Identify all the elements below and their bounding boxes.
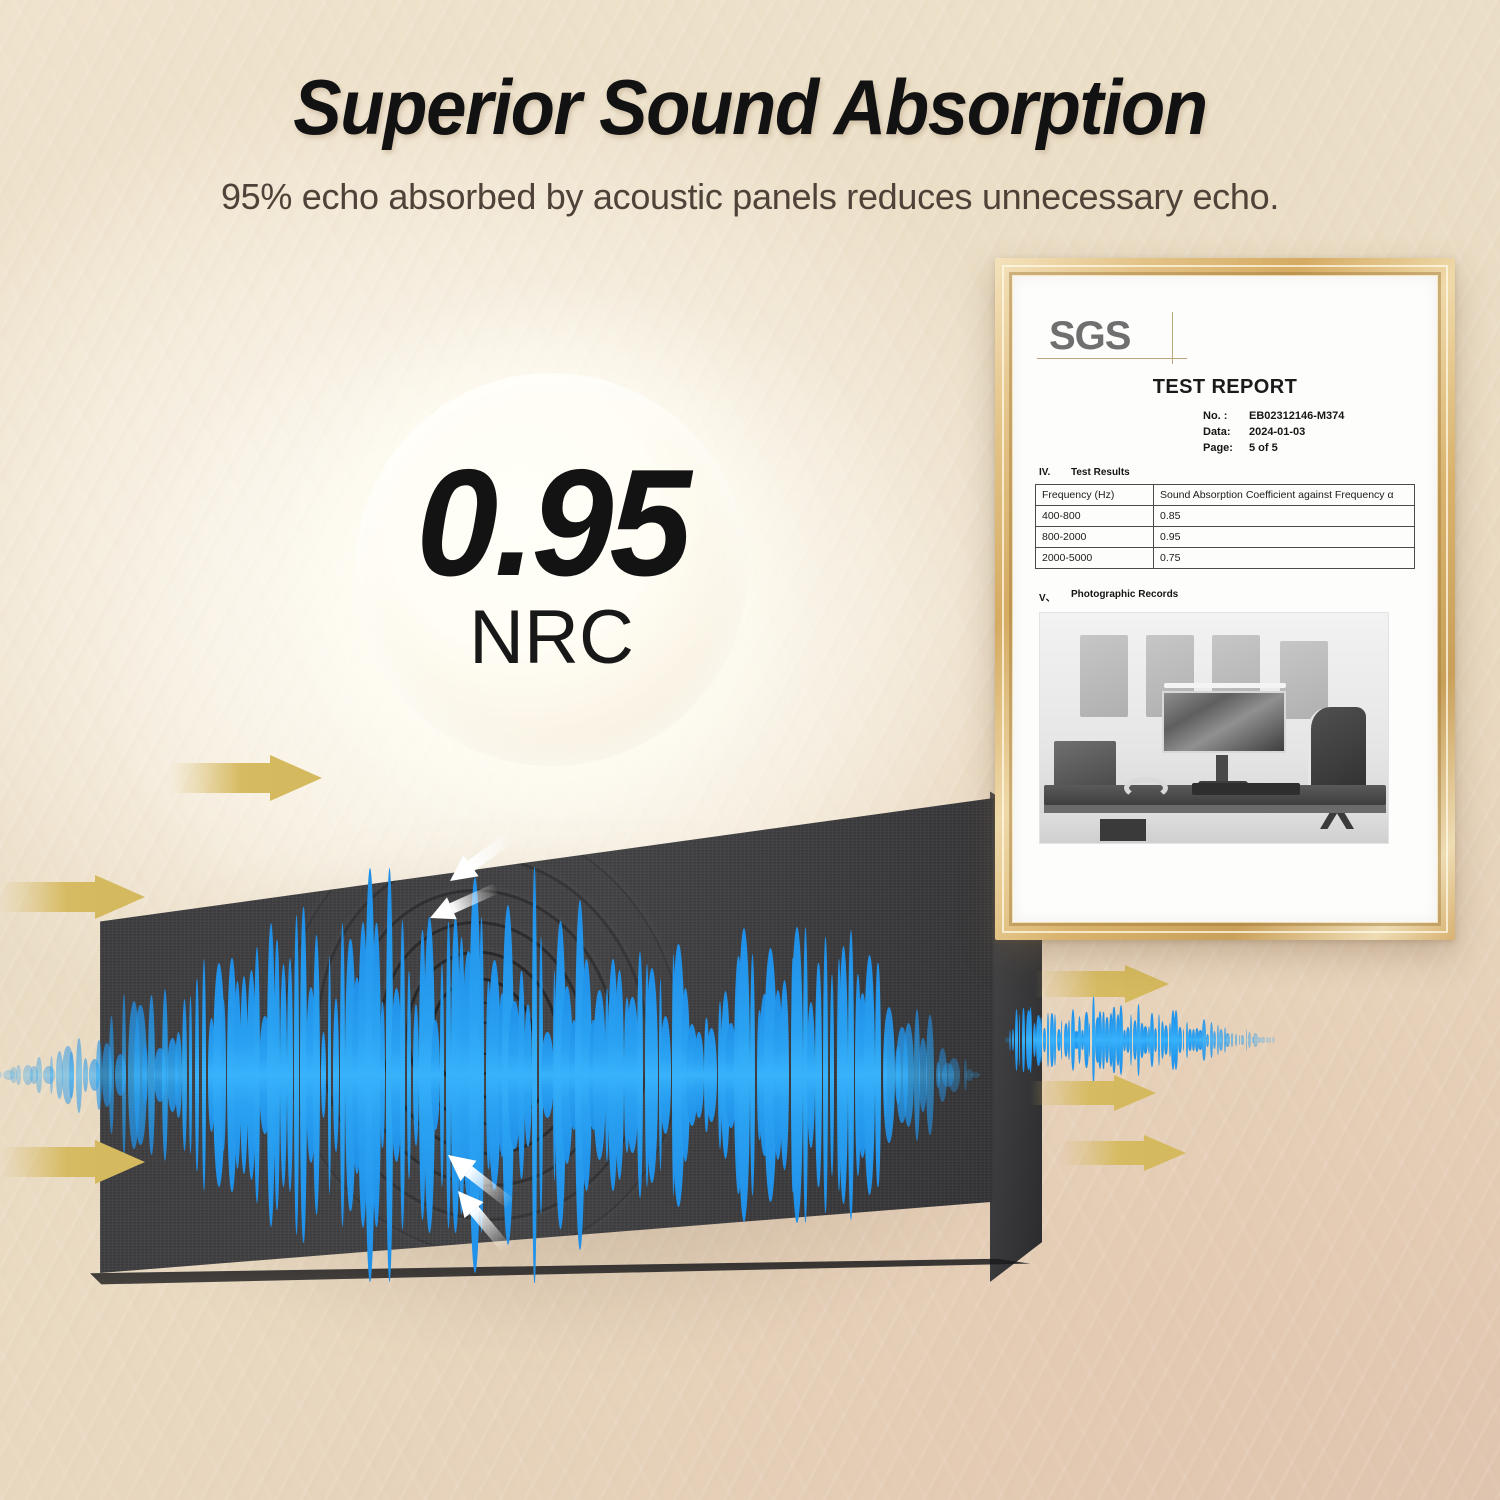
waveform-spike — [274, 940, 280, 1210]
arrow-shaft — [170, 763, 270, 793]
section-title: Test Results — [1071, 467, 1130, 478]
waveform-spike — [69, 1052, 73, 1099]
waveform-spike — [1089, 1023, 1091, 1057]
report-meta-key: Data: — [1203, 426, 1249, 438]
page-subtitle: 95% echo absorbed by acoustic panels red… — [0, 176, 1500, 218]
photo-wall-panel — [1280, 641, 1328, 719]
waveform-spike — [122, 994, 126, 1156]
photo-headset — [1124, 777, 1168, 799]
waveform-spike — [175, 1032, 182, 1118]
table-row: 2000-5000 0.75 — [1036, 548, 1415, 569]
attenuated-sound-waveform — [1005, 1000, 1275, 1080]
sgs-logo: SGS — [1049, 316, 1169, 356]
waveform-spike — [1183, 1029, 1185, 1051]
table-header-row: Frequency (Hz) Sound Absorption Coeffici… — [1036, 485, 1415, 506]
photo-floor — [1040, 813, 1388, 843]
table-cell-frequency: 800-2000 — [1036, 527, 1154, 548]
waveform-spike — [221, 999, 226, 1151]
waveform-spike — [903, 1023, 914, 1127]
waveform-spike — [440, 963, 444, 1187]
waveform-spike — [321, 1032, 326, 1117]
table-cell-coefficient: 0.75 — [1154, 548, 1415, 569]
waveform-spike — [400, 920, 406, 1230]
waveform-spike — [791, 927, 803, 1223]
sgs-logo-tick-vertical — [1172, 312, 1174, 364]
photo-monitor-stand — [1216, 755, 1228, 783]
arrow-shaft — [0, 882, 95, 912]
arrow-head — [270, 755, 322, 801]
waveform-spike — [750, 954, 755, 1195]
waveform-spike — [43, 1066, 55, 1084]
waveform-spike — [1253, 1033, 1258, 1047]
waveform-spike — [1246, 1029, 1248, 1051]
table-cell-coefficient: 0.85 — [1154, 506, 1415, 527]
section-number: IV. — [1035, 467, 1071, 478]
waveform-spike — [848, 930, 854, 1219]
waveform-spike — [1219, 1029, 1223, 1051]
waveform-spike — [1043, 1028, 1046, 1052]
waveform-spike — [694, 1032, 704, 1118]
arrow-shaft — [0, 1147, 95, 1177]
waveform-spike — [1178, 1027, 1182, 1053]
waveform-spike — [407, 971, 411, 1178]
waveform-spike — [660, 1016, 672, 1134]
waveform-spike — [883, 1007, 895, 1144]
sound-direction-arrow — [1035, 965, 1169, 1003]
waveform-spike — [830, 974, 834, 1176]
waveform-spike — [333, 998, 339, 1153]
waveform-spike — [971, 1072, 980, 1078]
waveform-spike — [36, 1057, 42, 1094]
arrow-shaft — [1060, 1141, 1144, 1165]
sound-direction-arrow — [170, 755, 322, 801]
waveform-spike — [1102, 1012, 1104, 1069]
waveform-spike — [1054, 1014, 1056, 1067]
waveform-spike — [1239, 1035, 1241, 1045]
sound-direction-arrow — [1060, 1135, 1186, 1171]
waveform-spike — [593, 990, 606, 1161]
waveform-spike — [1154, 1028, 1158, 1051]
photo-keyboard — [1192, 783, 1300, 795]
photo-floor-box — [1100, 819, 1146, 841]
table-row: 800-2000 0.95 — [1036, 527, 1415, 548]
waveform-spike — [16, 1065, 21, 1086]
waveform-spike — [1068, 1020, 1070, 1060]
report-meta-value: 2024-01-03 — [1249, 426, 1305, 438]
arrow-shaft — [1035, 971, 1125, 997]
waveform-spike — [287, 958, 293, 1191]
report-meta-value: 5 of 5 — [1249, 442, 1278, 454]
nrc-label: NRC — [469, 600, 634, 676]
photo-monitor-lightbar — [1164, 683, 1286, 688]
arrow-head — [95, 1140, 145, 1184]
waveform-spike — [109, 1016, 114, 1134]
test-report-document: SGS TEST REPORT No. : EB02312146-M374 Da… — [1013, 276, 1437, 922]
waveform-spike — [1235, 1034, 1237, 1047]
waveform-spike — [413, 1004, 419, 1146]
waveform-spike — [202, 959, 206, 1190]
sgs-logo-tick-horizontal — [1037, 358, 1187, 360]
nrc-rating-badge: 0.95 NRC — [355, 373, 748, 766]
arrow-head — [1125, 965, 1169, 1003]
waveform-spike — [83, 1058, 88, 1091]
waveform-spike — [815, 963, 822, 1188]
photographic-records-section: V、 Photographic Records — [1035, 589, 1415, 844]
waveform-spike — [823, 937, 828, 1214]
report-meta-block: No. : EB02312146-M374 Data: 2024-01-03 P… — [1035, 410, 1415, 454]
waveform-spike — [637, 952, 643, 1198]
waveform-spike — [1022, 1008, 1025, 1073]
waveform-spike — [76, 1038, 82, 1113]
sound-direction-arrow — [0, 875, 145, 919]
waveform-spike — [1130, 1014, 1132, 1066]
arrow-head — [95, 875, 145, 919]
waveform-spike — [1272, 1037, 1275, 1043]
waveform-spike — [864, 955, 875, 1196]
waveform-spike — [1213, 1031, 1216, 1049]
report-meta-row: Page: 5 of 5 — [1203, 442, 1415, 454]
report-meta-row: Data: 2024-01-03 — [1203, 426, 1415, 438]
photo-laptop — [1054, 741, 1116, 789]
photo-monitor — [1162, 691, 1286, 753]
sound-direction-arrow — [1030, 1075, 1156, 1111]
section-title: Photographic Records — [1071, 589, 1178, 604]
waveform-spike — [1047, 1013, 1050, 1067]
report-meta-key: No. : — [1203, 410, 1249, 422]
table-cell-coefficient: 0.95 — [1154, 527, 1415, 548]
waveform-spike — [1241, 1035, 1243, 1045]
waveform-spike — [1261, 1037, 1265, 1043]
report-meta-row: No. : EB02312146-M374 — [1203, 410, 1415, 422]
waveform-spike — [926, 1015, 934, 1135]
waveform-spike — [431, 1020, 440, 1131]
waveform-spike — [807, 1002, 816, 1149]
waveform-spike — [524, 1004, 532, 1147]
waveform-spike — [706, 1028, 717, 1122]
waveform-spike — [1040, 1017, 1042, 1063]
waveform-spike — [1009, 1030, 1011, 1051]
section-heading-test-results: IV. Test Results — [1035, 467, 1415, 478]
waveform-spike — [195, 979, 199, 1171]
table-header-cell: Sound Absorption Coefficient against Fre… — [1154, 485, 1415, 506]
arrow-head — [1144, 1135, 1186, 1171]
waveform-spike — [1231, 1033, 1233, 1047]
waveform-spike — [1012, 1029, 1014, 1051]
waveform-spike — [541, 1032, 554, 1118]
arrow-head — [1114, 1075, 1156, 1111]
waveform-spike — [1268, 1037, 1271, 1043]
waveform-spike — [50, 1056, 53, 1094]
section-number: V、 — [1035, 589, 1071, 604]
waveform-spike — [294, 915, 299, 1234]
waveform-spike — [1029, 1007, 1032, 1073]
waveform-spike — [646, 968, 658, 1183]
waveform-spike — [313, 935, 320, 1214]
sound-direction-arrow — [0, 1140, 145, 1184]
certificate-picture-frame: SGS TEST REPORT No. : EB02312146-M374 Da… — [995, 258, 1455, 940]
waveform-spike — [189, 996, 193, 1154]
report-meta-key: Page: — [1203, 442, 1249, 454]
waveform-spike — [142, 1044, 148, 1106]
waveform-spike — [738, 928, 750, 1221]
report-title: TEST REPORT — [1035, 376, 1415, 399]
waveform-spike — [1015, 1009, 1018, 1071]
table-cell-frequency: 400-800 — [1036, 506, 1154, 527]
sgs-logo-text: SGS — [1049, 316, 1130, 356]
table-header-cell: Frequency (Hz) — [1036, 485, 1154, 506]
waveform-spike — [1143, 1026, 1148, 1054]
waveform-spike — [0, 1072, 2, 1078]
waveform-spike — [380, 1002, 385, 1149]
photo-desk-edge — [1044, 804, 1386, 813]
test-results-table: Frequency (Hz) Sound Absorption Coeffici… — [1035, 484, 1415, 569]
waveform-spike — [1206, 1034, 1209, 1047]
waveform-spike — [875, 963, 881, 1188]
photo-wall-panel — [1080, 635, 1128, 717]
waveform-spike — [839, 946, 848, 1204]
section-heading-photographic-records: V、 Photographic Records — [1035, 589, 1415, 604]
table-row: 400-800 0.85 — [1036, 506, 1415, 527]
waveform-spike — [182, 999, 187, 1150]
waveform-spike — [948, 1058, 960, 1092]
nrc-value: 0.95 — [416, 451, 687, 595]
waveform-spike — [1248, 1032, 1251, 1048]
page-title: Superior Sound Absorption — [53, 62, 1448, 153]
waveform-spike — [1061, 1020, 1063, 1060]
waveform-spike — [1164, 1025, 1169, 1055]
waveform-spike — [1158, 1014, 1160, 1066]
photographic-record-image — [1039, 612, 1389, 844]
report-meta-value: EB02312146-M374 — [1249, 410, 1344, 422]
waveform-spike — [1019, 1014, 1021, 1066]
waveform-spike — [328, 956, 331, 1193]
waveform-spike — [780, 980, 789, 1170]
table-cell-frequency: 2000-5000 — [1036, 548, 1154, 569]
waveform-spike — [532, 867, 537, 1284]
waveform-spike — [1225, 1033, 1230, 1047]
arrow-shaft — [1030, 1081, 1114, 1105]
